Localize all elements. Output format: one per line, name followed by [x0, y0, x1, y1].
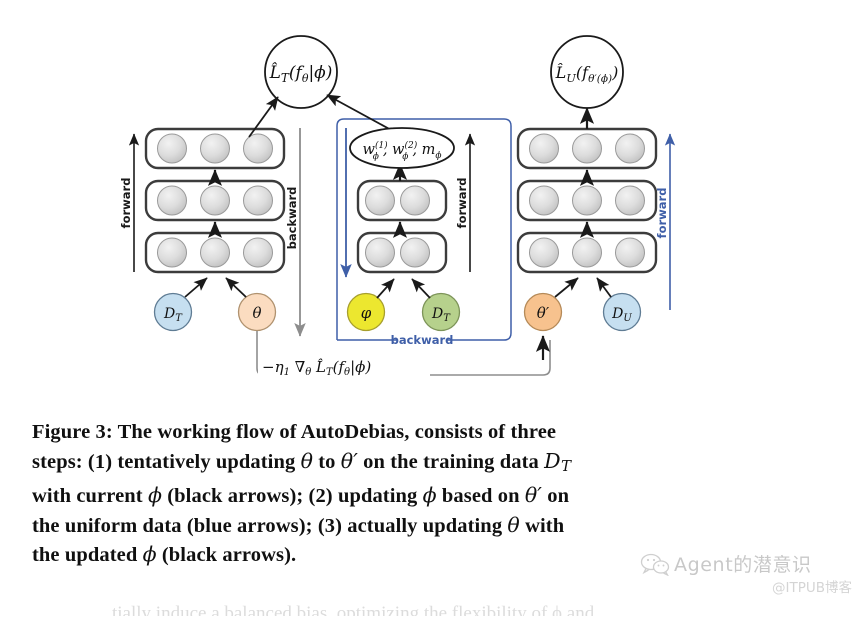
- gradient-expression: −η1 ∇θ L̂T(fθ|ϕ): [262, 358, 371, 378]
- input-node-du: DU: [604, 294, 641, 331]
- figure-container: forward backward forward: [0, 0, 862, 620]
- backward-label-mid: backward: [391, 333, 454, 347]
- network-right-layer-3: [518, 129, 656, 168]
- network-mid: [358, 164, 446, 272]
- loss-train-node: L̂T(fθ|ϕ): [265, 36, 337, 108]
- loss-train-label: L̂T(fθ|ϕ): [269, 63, 333, 85]
- page-body-clipped-line: tially induce a balanced bias, optimizin…: [112, 603, 752, 616]
- forward-axis-right: forward: [655, 134, 670, 310]
- neuron: [366, 238, 395, 267]
- neuron: [201, 238, 230, 267]
- node-label: θ′: [537, 304, 550, 322]
- neuron: [616, 186, 645, 215]
- backward-label-left: backward: [285, 187, 299, 250]
- neuron: [573, 134, 602, 163]
- forward-label-right: forward: [655, 188, 669, 239]
- caption-line-3: with current ϕ (black arrows); (2) updat…: [32, 481, 732, 511]
- neuron: [573, 238, 602, 267]
- forward-label-left: forward: [119, 178, 133, 229]
- neuron: [530, 238, 559, 267]
- node-label: φ: [361, 304, 372, 322]
- weights-ellipse-node: w(1)ϕ, w(2)ϕ, mϕ: [350, 128, 454, 168]
- arrow-varphi-to-midnet: [377, 279, 394, 298]
- arrow-du-to-rightnet: [597, 278, 611, 297]
- caption-line-4: the uniform data (blue arrows); (3) actu…: [32, 511, 732, 541]
- neuron: [401, 186, 430, 215]
- input-node-theta-prime: θ′: [525, 294, 562, 331]
- neuron: [158, 186, 187, 215]
- backward-axis-left: backward: [285, 128, 300, 336]
- neuron: [530, 134, 559, 163]
- neuron: [616, 134, 645, 163]
- network-left-layer-1: [146, 233, 284, 272]
- arrow-dt-to-leftnet: [185, 278, 207, 297]
- neuron: [244, 186, 273, 215]
- network-left: [146, 129, 284, 272]
- arrow-dtmid-to-midnet: [412, 279, 430, 298]
- neuron: [366, 186, 395, 215]
- forward-label-mid: forward: [455, 178, 469, 229]
- input-node-dt-mid: DT: [423, 294, 460, 331]
- network-mid-layer-2: [358, 181, 446, 220]
- neuron: [616, 238, 645, 267]
- network-left-layer-2: [146, 181, 284, 220]
- input-node-theta: θ: [239, 294, 276, 331]
- neuron: [201, 134, 230, 163]
- network-right-layer-2: [518, 181, 656, 220]
- forward-axis-mid: forward: [455, 134, 470, 272]
- network-left-layer-3: [146, 129, 284, 168]
- network-right-layer-1: [518, 233, 656, 272]
- loss-uniform-node: L̂U(fθ′(ϕ)): [551, 36, 623, 108]
- figure-caption: Figure 3: The working flow of AutoDebias…: [32, 418, 732, 570]
- caption-line-2: steps: (1) tentatively updating θ to θ′ …: [32, 447, 732, 482]
- neuron: [530, 186, 559, 215]
- input-node-varphi: φ: [348, 294, 385, 331]
- arrow-thetaprime-to-rightnet: [555, 278, 578, 297]
- node-label: θ: [252, 304, 261, 322]
- network-mid-layer-1: [358, 233, 446, 272]
- forward-axis-left: forward: [119, 134, 134, 272]
- caption-line-1: Figure 3: The working flow of AutoDebias…: [32, 418, 732, 447]
- watermark-sub-text: @ITPUB博客: [772, 576, 852, 596]
- input-node-dt-left: DT: [155, 294, 192, 331]
- caption-line-5: the updated ϕ (black arrows).: [32, 540, 732, 570]
- autodebias-flow-diagram: forward backward forward: [0, 0, 862, 410]
- neuron: [158, 134, 187, 163]
- neuron: [201, 186, 230, 215]
- arrow-theta-to-leftnet: [226, 278, 246, 297]
- neuron: [573, 186, 602, 215]
- neuron: [401, 238, 430, 267]
- network-right: [518, 108, 656, 272]
- neuron: [244, 134, 273, 163]
- neuron: [158, 238, 187, 267]
- neuron: [244, 238, 273, 267]
